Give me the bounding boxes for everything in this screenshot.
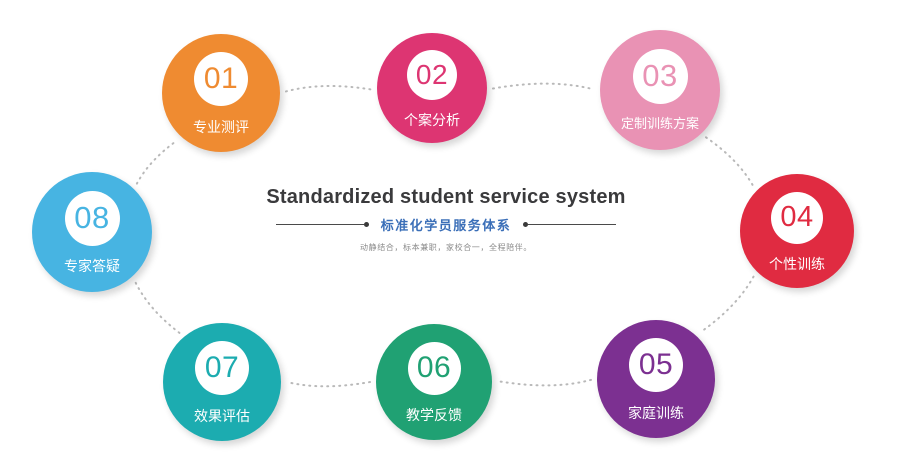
connector-01-to-02 — [286, 86, 371, 91]
connector-02-to-03 — [493, 84, 594, 90]
step-number-badge-01: 01 — [194, 52, 248, 106]
connector-05-to-06 — [498, 380, 591, 386]
step-node-08[interactable]: 08专家答疑 — [32, 172, 152, 292]
step-number-badge-07: 07 — [195, 341, 249, 395]
step-number-badge-08: 08 — [65, 191, 120, 246]
connector-04-to-05 — [701, 277, 754, 332]
step-node-05[interactable]: 05家庭训练 — [597, 320, 715, 438]
step-label-05: 家庭训练 — [628, 406, 684, 420]
page-tagline: 动静结合，标本兼职，家校合一，全程陪伴。 — [236, 242, 656, 253]
step-number-badge-05: 05 — [629, 338, 683, 392]
step-label-03: 定制训练方案 — [621, 117, 699, 130]
divider-line-left — [276, 224, 364, 225]
step-number-badge-06: 06 — [408, 342, 461, 395]
step-node-07[interactable]: 07效果评估 — [163, 323, 281, 441]
step-node-01[interactable]: 01专业测评 — [162, 34, 280, 152]
connector-03-to-04 — [706, 137, 753, 185]
page-title: Standardized student service system — [236, 186, 656, 209]
step-label-08: 专家答疑 — [64, 259, 120, 273]
step-label-07: 效果评估 — [194, 409, 250, 423]
center-text-block: Standardized student service system 标准化学… — [236, 186, 656, 253]
step-node-04[interactable]: 04个性训练 — [740, 174, 854, 288]
step-label-02: 个案分析 — [404, 113, 460, 127]
step-number-badge-04: 04 — [771, 192, 823, 244]
step-label-06: 教学反馈 — [406, 408, 462, 422]
connector-08-to-01 — [137, 141, 177, 184]
infographic-canvas: 01专业测评02个案分析03定制训练方案04个性训练05家庭训练06教学反馈07… — [0, 0, 900, 456]
step-number-badge-03: 03 — [633, 49, 688, 104]
step-node-06[interactable]: 06教学反馈 — [376, 324, 492, 440]
step-label-01: 专业测评 — [193, 120, 249, 134]
step-node-02[interactable]: 02个案分析 — [377, 33, 487, 143]
step-node-03[interactable]: 03定制训练方案 — [600, 30, 720, 150]
step-number-badge-02: 02 — [407, 50, 457, 100]
divider-line-right — [528, 224, 616, 225]
connector-06-to-07 — [287, 382, 370, 386]
page-subtitle: 标准化学员服务体系 — [369, 215, 524, 234]
connector-07-to-08 — [135, 282, 179, 333]
step-label-04: 个性训练 — [769, 257, 825, 271]
subtitle-divider-row: 标准化学员服务体系 — [236, 215, 656, 234]
